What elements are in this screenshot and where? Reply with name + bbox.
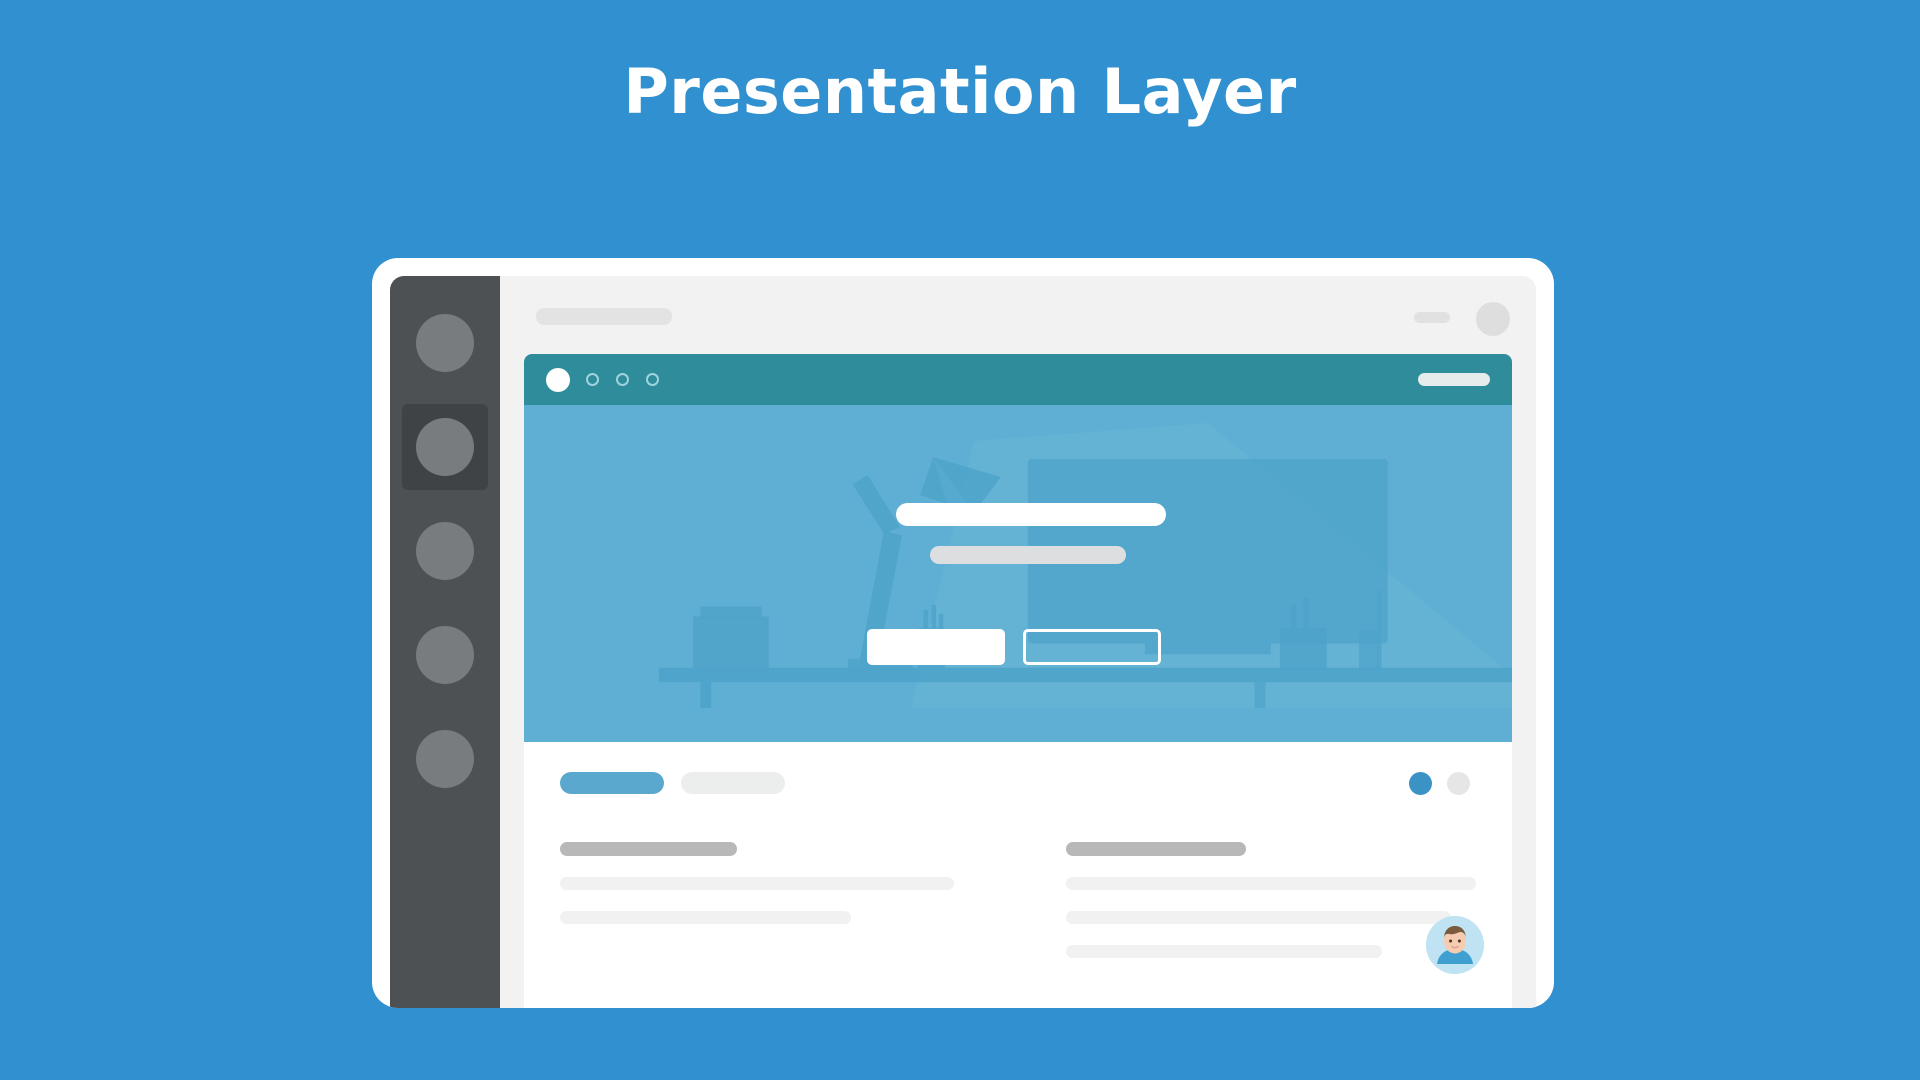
- circle-icon: [416, 730, 474, 788]
- sidebar-item-4[interactable]: [402, 612, 488, 698]
- content-area: [524, 742, 1512, 1008]
- app-logo-placeholder: [536, 308, 672, 325]
- app-header-menu-pill[interactable]: [1414, 312, 1450, 323]
- browser-window: [524, 354, 1512, 1008]
- hero-copy: [896, 503, 1226, 564]
- hero-button-group: [867, 629, 1161, 665]
- content-line-placeholder: [560, 911, 851, 924]
- pager-dot-1[interactable]: [1409, 772, 1432, 795]
- tab-2[interactable]: [681, 772, 785, 794]
- hero-banner: [524, 405, 1512, 742]
- support-avatar[interactable]: [1426, 916, 1484, 974]
- tablet-screen: [390, 276, 1536, 1008]
- tab-1[interactable]: [560, 772, 664, 794]
- circle-icon: [416, 314, 474, 372]
- sidebar-item-1[interactable]: [402, 300, 488, 386]
- browser-dot-1-icon[interactable]: [586, 373, 599, 386]
- content-columns: [560, 842, 1476, 958]
- circle-icon: [416, 626, 474, 684]
- browser-chrome-bar: [524, 354, 1512, 405]
- hero-secondary-button[interactable]: [1023, 629, 1161, 665]
- app-header: [500, 276, 1536, 354]
- person-avatar-icon: [1426, 916, 1484, 974]
- circle-icon: [416, 522, 474, 580]
- content-line-placeholder: [1066, 877, 1477, 890]
- app-sidebar: [390, 276, 500, 1008]
- hero-primary-button[interactable]: [867, 629, 1005, 665]
- circle-icon: [416, 418, 474, 476]
- content-line-placeholder: [560, 877, 954, 890]
- content-heading-placeholder: [560, 842, 737, 856]
- sidebar-item-2[interactable]: [402, 404, 488, 490]
- content-line-placeholder: [1066, 945, 1382, 958]
- content-line-placeholder: [1066, 911, 1452, 924]
- pager-dots: [1409, 772, 1470, 795]
- user-avatar-icon[interactable]: [1476, 302, 1510, 336]
- content-heading-placeholder: [1066, 842, 1247, 856]
- content-column-left: [560, 842, 971, 958]
- page-title: Presentation Layer: [0, 58, 1920, 126]
- app-body: [500, 276, 1536, 1008]
- hero-headline-placeholder: [896, 503, 1166, 526]
- browser-dot-3-icon[interactable]: [646, 373, 659, 386]
- hero-subheadline-placeholder: [930, 546, 1126, 564]
- browser-dot-2-icon[interactable]: [616, 373, 629, 386]
- content-column-right: [1066, 842, 1477, 958]
- browser-address-pill[interactable]: [1418, 373, 1490, 386]
- pager-dot-2[interactable]: [1447, 772, 1470, 795]
- browser-dot-active-icon[interactable]: [546, 368, 570, 392]
- tablet-device-frame: [372, 258, 1554, 1008]
- tab-bar: [560, 772, 1476, 794]
- sidebar-item-3[interactable]: [402, 508, 488, 594]
- sidebar-item-5[interactable]: [402, 716, 488, 802]
